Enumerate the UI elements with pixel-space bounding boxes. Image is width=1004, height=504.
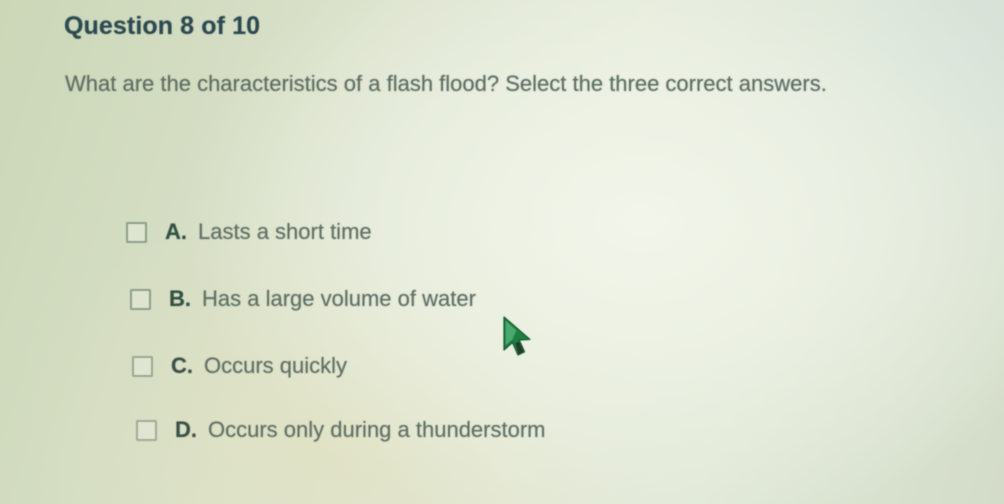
option-row-b[interactable]: B. Has a large volume of water	[130, 284, 476, 314]
arrow-pointer-cursor	[498, 314, 542, 360]
quiz-screen: Question 8 of 10 What are the characteri…	[0, 0, 1004, 504]
option-row-c[interactable]: C. Occurs quickly	[132, 351, 347, 381]
option-text-a: Lasts a short time	[198, 219, 372, 245]
checkbox-c[interactable]	[132, 356, 153, 377]
quiz-content: Question 8 of 10 What are the characteri…	[0, 0, 1004, 504]
checkbox-d[interactable]	[136, 420, 157, 441]
option-letter-a: A.	[165, 219, 187, 245]
option-text-c: Occurs quickly	[204, 353, 347, 379]
page-title: Question 8 of 10	[64, 12, 260, 41]
option-letter-b: B.	[169, 286, 191, 312]
checkbox-b[interactable]	[130, 289, 151, 310]
option-row-d[interactable]: D. Occurs only during a thunderstorm	[136, 415, 546, 445]
option-text-d: Occurs only during a thunderstorm	[208, 417, 546, 443]
option-letter-d: D.	[175, 417, 197, 443]
checkbox-a[interactable]	[126, 222, 147, 243]
question-prompt: What are the characteristics of a flash …	[65, 61, 875, 106]
option-text-b: Has a large volume of water	[202, 286, 476, 312]
option-row-a[interactable]: A. Lasts a short time	[126, 217, 372, 247]
option-letter-c: C.	[171, 353, 193, 379]
